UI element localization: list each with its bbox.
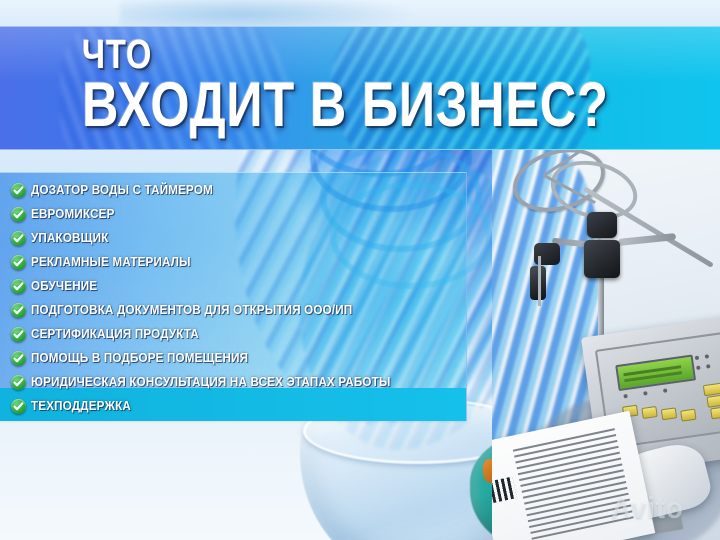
feature-item: ЮРИДИЧЕСКАЯ КОНСУЛЬТАЦИЯ НА ВСЕХ ЭТАПАХ … [0,370,466,394]
feature-item-label: ПОДГОТОВКА ДОКУМЕНТОВ ДЛЯ ОТКРЫТИЯ ООО/И… [31,303,352,317]
feature-item-label: ДОЗАТОР ВОДЫ С ТАЙМЕРОМ [31,183,213,197]
keypad-button [710,406,720,420]
green-check-circle-icon [11,279,26,294]
indicator-led [696,366,701,371]
clamp-body [584,240,620,278]
top-strip [0,0,720,26]
indicator-led [695,356,700,361]
green-check-circle-icon [11,375,26,390]
equipment-photo [492,148,720,540]
feature-item-label: ПОМОЩЬ В ПОДБОРЕ ПОМЕЩЕНИЯ [31,351,248,365]
keypad-button [706,394,720,408]
indicator-led [705,354,710,359]
green-check-circle-icon [11,351,26,366]
feature-item-label: ОБУЧЕНИЕ [31,279,97,293]
poster-canvas: ЧТО ВХОДИТ В БИЗНЕС? ДОЗАТОР ВОДЫ С ТАЙМ… [0,0,720,540]
green-check-circle-icon [11,399,26,414]
green-check-circle-icon [11,303,26,318]
feature-item-label: ТЕХПОДДЕРЖКА [31,399,131,413]
clamp-arm [618,233,676,246]
certificate-text-lines [513,428,636,540]
feature-item: СЕРТИФИКАЦИЯ ПРОДУКТА [0,322,466,346]
clamp-knob-upper [587,212,617,238]
keypad-button [661,407,677,420]
keypad-button [680,409,696,422]
feature-item-label: ЕВРОМИКСЕР [31,207,115,221]
feature-item: ТЕХПОДДЕРЖКА [0,394,466,418]
indicator-led [706,364,711,369]
features-list: ДОЗАТОР ВОДЫ С ТАЙМЕРОМЕВРОМИКСЕРУПАКОВЩ… [0,178,466,418]
headline-line-1: ЧТО [82,34,152,75]
feature-item: ЕВРОМИКСЕР [0,202,466,226]
lcd-display [615,354,696,391]
indicator-led [663,388,668,393]
feature-item-label: УПАКОВЩИК [31,231,108,245]
green-check-circle-icon [11,327,26,342]
feature-item: УПАКОВЩИК [0,226,466,250]
feature-item: ПОМОЩЬ В ПОДБОРЕ ПОМЕЩЕНИЯ [0,346,466,370]
green-check-circle-icon [11,183,26,198]
keypad-button [641,406,657,419]
indicator-led [643,391,648,396]
eac-mark-icon [492,476,517,503]
feature-item: ПОДГОТОВКА ДОКУМЕНТОВ ДЛЯ ОТКРЫТИЯ ООО/И… [0,298,466,322]
support-rod [538,256,541,306]
green-check-circle-icon [11,207,26,222]
feature-item: ОБУЧЕНИЕ [0,274,466,298]
indicator-led [623,394,628,399]
green-check-circle-icon [11,255,26,270]
feature-item-label: РЕКЛАМНЫЕ МАТЕРИАЛЫ [31,255,191,269]
feature-item-label: ЮРИДИЧЕСКАЯ КОНСУЛЬТАЦИЯ НА ВСЕХ ЭТАПАХ … [31,375,391,389]
green-check-circle-icon [11,231,26,246]
feature-item-label: СЕРТИФИКАЦИЯ ПРОДУКТА [31,327,199,341]
keypad-button [703,383,720,397]
feature-item: ДОЗАТОР ВОДЫ С ТАЙМЕРОМ [0,178,466,202]
headline-line-2: ВХОДИТ В БИЗНЕС? [82,74,609,137]
top-strip-texture [120,0,420,28]
feature-item: РЕКЛАМНЫЕ МАТЕРИАЛЫ [0,250,466,274]
